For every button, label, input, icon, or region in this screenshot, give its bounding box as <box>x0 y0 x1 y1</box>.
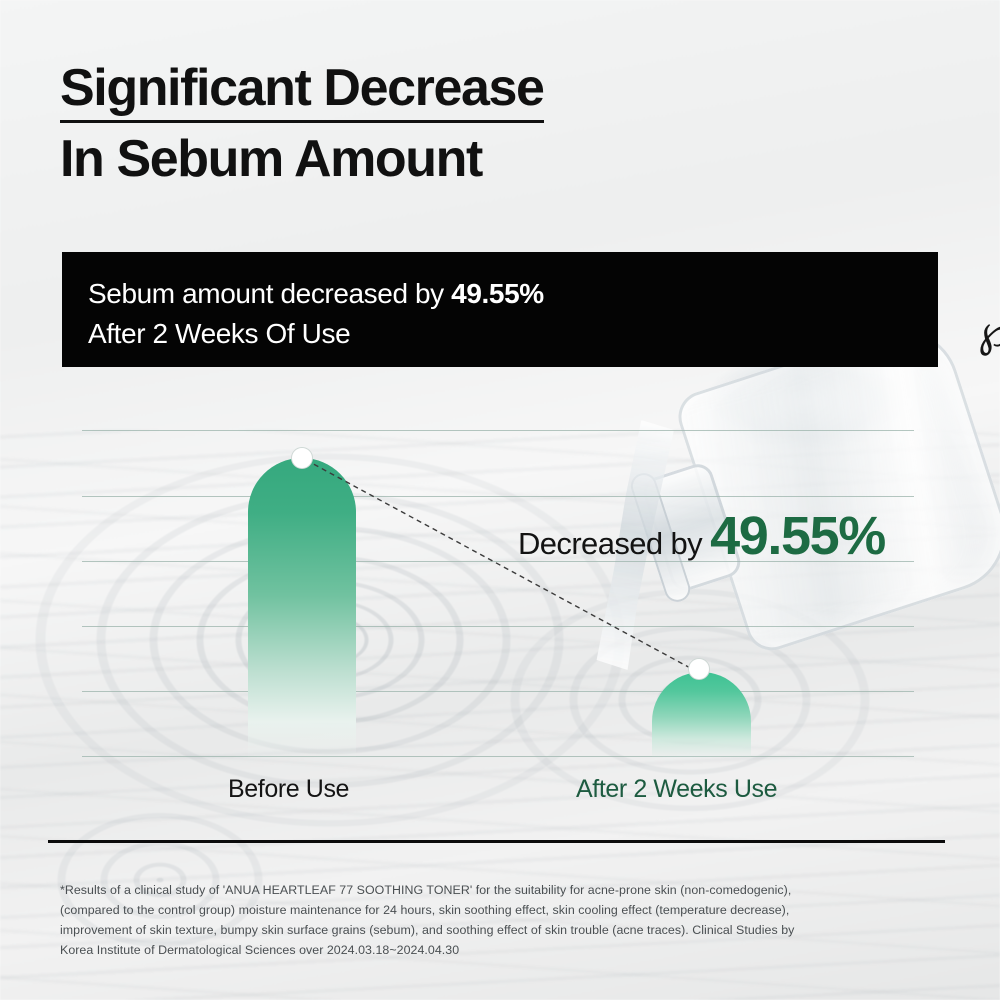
data-point-after-2-weeks-use <box>688 658 710 680</box>
footnote-line-2: (compared to the control group) moisture… <box>60 900 940 920</box>
callout-value: 49.55% <box>710 506 885 566</box>
trend-connector-line <box>0 400 1000 820</box>
footnote-line-4: Korea Institute of Dermatological Scienc… <box>60 940 940 960</box>
page-title: Significant Decrease In Sebum Amount <box>60 58 940 191</box>
banner-line-1-prefix: Sebum amount decreased by <box>88 278 451 309</box>
banner-line-1: Sebum amount decreased by 49.55% <box>88 274 938 314</box>
data-point-before-use <box>291 447 313 469</box>
sebum-bar-chart: Before Use After 2 Weeks Use <box>0 400 1000 820</box>
result-banner: Sebum amount decreased by 49.55% After 2… <box>62 252 938 367</box>
footnote-line-3: improvement of skin texture, bumpy skin … <box>60 920 940 940</box>
decorative-corner-icon: ℘ <box>978 310 1000 354</box>
callout-label: Decreased by <box>518 526 702 561</box>
title-line-2: In Sebum Amount <box>60 129 482 190</box>
title-line-1: Significant Decrease <box>60 58 544 123</box>
footnote: *Results of a clinical study of 'ANUA HE… <box>60 880 940 960</box>
banner-line-2: After 2 Weeks Of Use <box>88 314 938 354</box>
decrease-callout: Decreased by49.55% <box>518 505 885 567</box>
banner-line-1-value: 49.55% <box>451 278 544 309</box>
footnote-line-1: *Results of a clinical study of 'ANUA HE… <box>60 880 940 900</box>
footer-divider <box>48 840 945 843</box>
